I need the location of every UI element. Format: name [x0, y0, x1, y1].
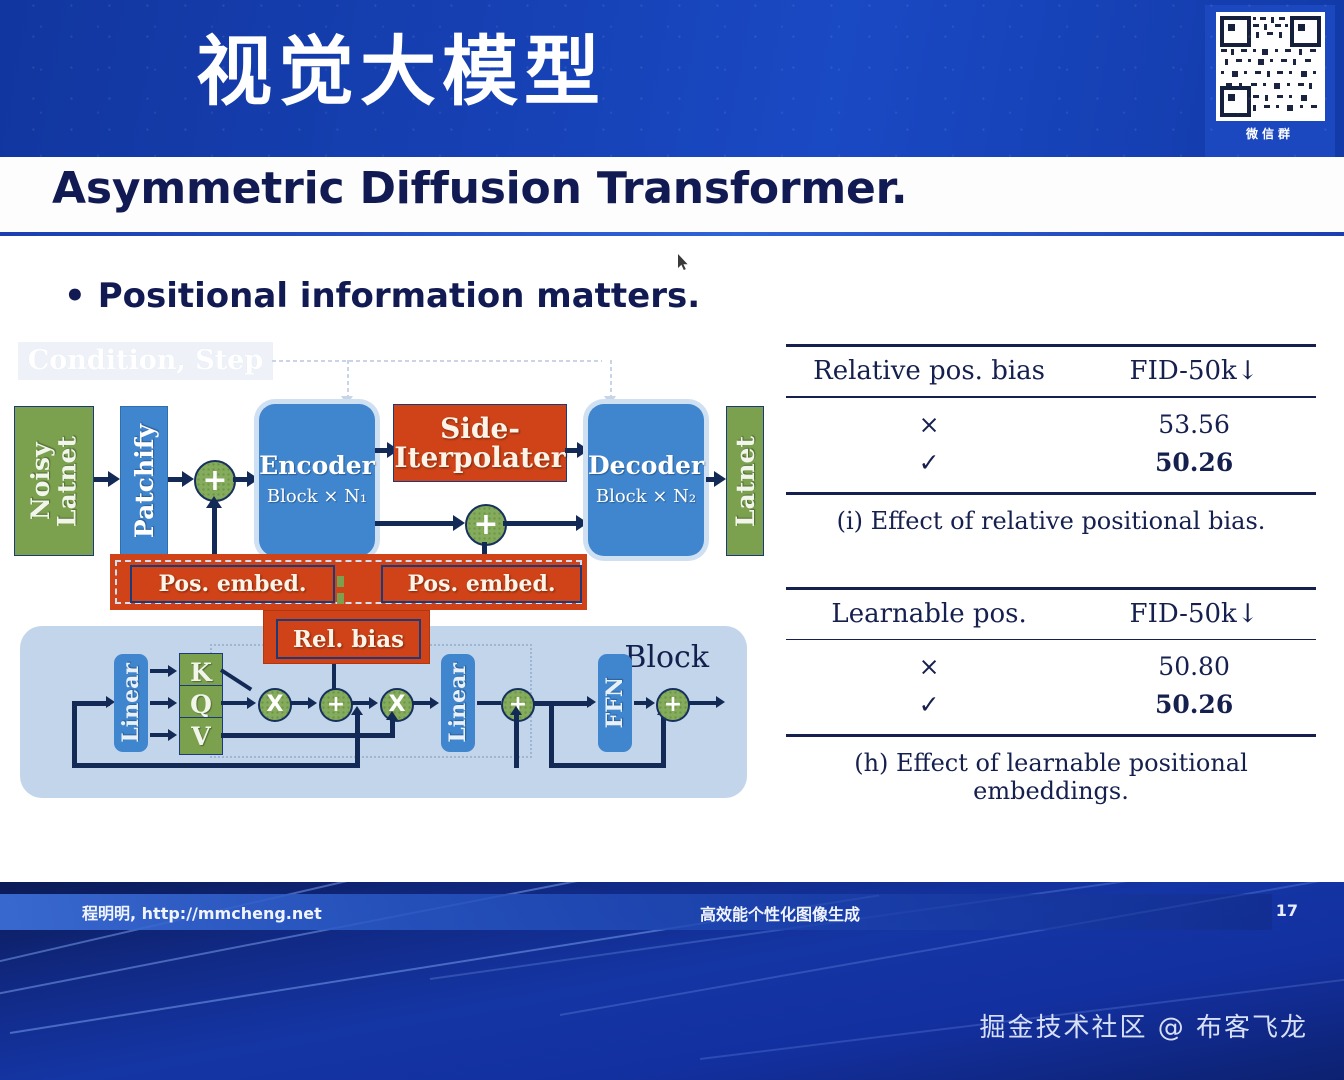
matmul-node-1: X	[258, 688, 292, 722]
line-v-up-to-mul2	[390, 718, 395, 738]
residual-up-2	[661, 714, 666, 768]
arrow-head-add-to-mul2-icon	[369, 697, 378, 709]
latnet-box: Latnet	[726, 406, 764, 556]
line-add2-to-decoder	[503, 521, 585, 526]
table2-row0-flag: ×	[786, 648, 1072, 686]
arrow-head-patchify-to-add1-icon	[182, 471, 194, 487]
table2-row1-flag: ✓	[786, 686, 1072, 724]
arrow-head-noisy-to-patchify-icon	[108, 471, 120, 487]
slide-header: 视觉大模型	[0, 0, 1344, 157]
decoder-sub: Block × N₂	[596, 486, 696, 507]
line-relbias-to-add	[332, 664, 336, 690]
block-input-line	[72, 701, 110, 706]
table1-row1-flag: ✓	[786, 444, 1072, 482]
noisy-latnet-label-1: Noisy	[26, 442, 55, 520]
relative-pos-bias-table: Relative pos. bias FID-50k↓ × 53.56 ✓ 50…	[786, 344, 1316, 535]
slide-footer: 程明明, http://mmcheng.net 高效能个性化图像生成 17 掘金…	[0, 882, 1344, 1080]
side-interpolater-label-1: Side-	[440, 414, 520, 443]
arrow-head-residual-add1-icon	[510, 706, 522, 715]
arrow-head-mul2-to-linear2-icon	[430, 697, 439, 709]
block-output-arrow-icon	[716, 696, 725, 708]
bullet-marker-icon: •	[64, 276, 86, 316]
line-add1-to-ffn	[533, 701, 591, 706]
mouse-cursor-icon	[678, 254, 690, 272]
table1-header-1: FID-50k↓	[1072, 347, 1316, 396]
side-interpolater-label-2: Iterpolater	[394, 443, 565, 472]
header-cjk-title: 视觉大模型	[196, 34, 606, 110]
title-divider	[0, 232, 1344, 236]
arrow-head-add1-to-ffn-icon	[587, 696, 596, 708]
noisy-latnet-label-2: Latnet	[52, 436, 81, 527]
table-row: × 53.56	[786, 406, 1316, 444]
arrow-head-v-to-mul2-icon	[386, 711, 398, 720]
line-v-to-mul2	[221, 733, 394, 738]
arrow-head-posembed-to-add1-icon	[206, 496, 222, 508]
residual-across-2	[549, 763, 666, 768]
arrow-head-skip-to-add2-icon	[453, 515, 465, 531]
results-tables: Relative pos. bias FID-50k↓ × 53.56 ✓ 50…	[786, 344, 1316, 805]
arrow-head-q-to-mul1-icon	[247, 697, 256, 709]
table1-row1-value: 50.26	[1072, 444, 1316, 482]
condition-drop-encoder	[347, 360, 349, 398]
condition-routing-line	[272, 360, 602, 362]
attention-add-node: +	[319, 688, 353, 722]
watermark-text: 掘金技术社区 @ 布客飞龙	[979, 1007, 1308, 1044]
rel-bias-box: Rel. bias	[276, 619, 421, 659]
condition-drop-decoder	[610, 360, 612, 398]
footer-topic: 高效能个性化图像生成	[700, 901, 860, 925]
residual-down-1	[72, 701, 77, 768]
arrow-head-ffn-to-add2-icon	[646, 697, 655, 709]
table-row: × 50.80	[786, 648, 1316, 686]
encoder-box: Encoder Block × N₁	[259, 404, 375, 556]
condition-step-label: Condition, Step	[18, 342, 273, 380]
bullet-text: Positional information matters.	[98, 276, 700, 316]
qr-finder-top-left	[1220, 16, 1251, 47]
v-box: V	[179, 717, 223, 755]
side-interpolater-box: Side- Iterpolater	[393, 404, 567, 482]
residual-down-2	[549, 701, 554, 768]
encoder-title: Encoder	[259, 453, 375, 479]
qr-finder-bottom-left	[1220, 86, 1251, 117]
encoder-sub: Block × N₁	[267, 486, 367, 507]
line-linear2-to-add1	[477, 701, 501, 705]
residual-add-node-2: +	[656, 688, 690, 722]
patchify-box: Patchify	[120, 406, 168, 556]
slide-root: 视觉大模型	[0, 0, 1344, 1080]
footer-author: 程明明, http://mmcheng.net	[82, 900, 322, 924]
arrow-head-mul1-to-add-icon	[308, 697, 317, 709]
table2-row1-value: 50.26	[1072, 686, 1316, 724]
arrow-head-q-icon	[168, 697, 177, 709]
decoder-box: Decoder Block × N₂	[588, 404, 704, 556]
table2-caption: (h) Effect of learnable positional embed…	[786, 737, 1316, 805]
decoder-title: Decoder	[588, 453, 704, 479]
table2-header-row: Learnable pos. FID-50k↓	[786, 590, 1316, 639]
patchify-label: Patchify	[130, 424, 159, 538]
table2-row0-value: 50.80	[1072, 648, 1316, 686]
linear-box-1: Linear	[114, 654, 148, 752]
rel-bias-wrapper: Rel. bias	[263, 610, 430, 664]
arrow-head-add2-to-decoder-icon	[576, 515, 588, 531]
qr-caption: 微信群	[1205, 125, 1335, 142]
bullet-line: •Positional information matters.	[64, 276, 700, 316]
linear-box-2: Linear	[441, 654, 475, 752]
table1-header-row: Relative pos. bias FID-50k↓	[786, 347, 1316, 396]
page-title: Asymmetric Diffusion Transformer.	[52, 163, 907, 214]
skip-line-encoder-to-add2	[375, 521, 460, 526]
learnable-pos-table: Learnable pos. FID-50k↓ × 50.80 ✓ 50.26 …	[786, 587, 1316, 806]
residual-across-1	[72, 763, 360, 768]
add-node-2: +	[465, 504, 507, 546]
wechat-group-qr-block: 微信群	[1205, 5, 1335, 157]
block-label: Block	[624, 640, 709, 675]
pos-embed-right: Pos. embed.	[381, 565, 582, 603]
table1-header-0: Relative pos. bias	[786, 347, 1072, 396]
arrow-head-v-icon	[168, 729, 177, 741]
table2-header-0: Learnable pos.	[786, 590, 1072, 639]
line-residual-into-add1	[514, 714, 519, 768]
footer-page-number: 17	[1276, 901, 1298, 920]
table1-row0-flag: ×	[786, 406, 1072, 444]
table1-caption: (i) Effect of relative positional bias.	[786, 495, 1316, 535]
architecture-diagram: Condition, Step Noisy Latnet Patchify +	[10, 338, 766, 808]
arrow-head-add1-to-encoder-icon	[247, 471, 259, 487]
latnet-label: Latnet	[731, 436, 760, 527]
table1-row0-value: 53.56	[1072, 406, 1316, 444]
noisy-latnet-box: Noisy Latnet	[14, 406, 94, 556]
slide-title-band: Asymmetric Diffusion Transformer.	[0, 157, 1344, 234]
wechat-group-qr-code	[1217, 13, 1324, 120]
ffn-box: FFN	[598, 654, 632, 752]
residual-up-1	[355, 714, 360, 768]
qr-finder-top-right	[1290, 16, 1321, 47]
arrow-head-k-icon	[168, 665, 177, 677]
arrow-head-decoder-to-latnet-icon	[714, 471, 726, 487]
line-posembed-to-add1	[212, 506, 217, 560]
pos-embed-left: Pos. embed.	[130, 565, 335, 603]
table2-header-1: FID-50k↓	[1072, 590, 1316, 639]
table-row: ✓ 50.26	[786, 686, 1316, 724]
table-row: ✓ 50.26	[786, 444, 1316, 482]
